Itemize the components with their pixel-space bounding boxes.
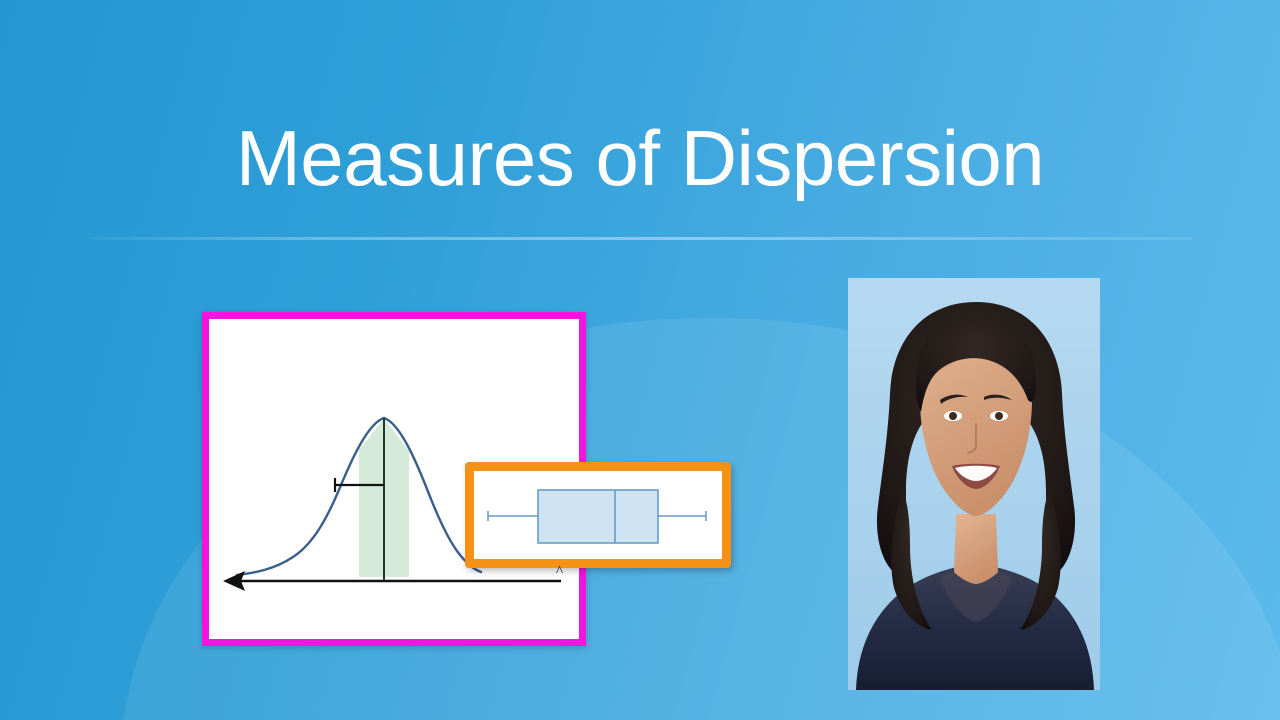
presenter-headshot (848, 278, 1100, 690)
presenter-portrait-graphic (848, 278, 1100, 690)
caret-mark: ^ (556, 566, 570, 578)
title-divider (88, 237, 1192, 240)
pupil-left (949, 412, 957, 420)
box-iqr (538, 490, 658, 543)
box-plot-chart (474, 471, 722, 559)
pupil-right (995, 412, 1003, 420)
box-plot-card (465, 462, 731, 568)
presentation-slide: Measures of Dispersion (0, 0, 1280, 720)
neck-shape (954, 514, 998, 584)
page-title: Measures of Dispersion (0, 118, 1280, 200)
